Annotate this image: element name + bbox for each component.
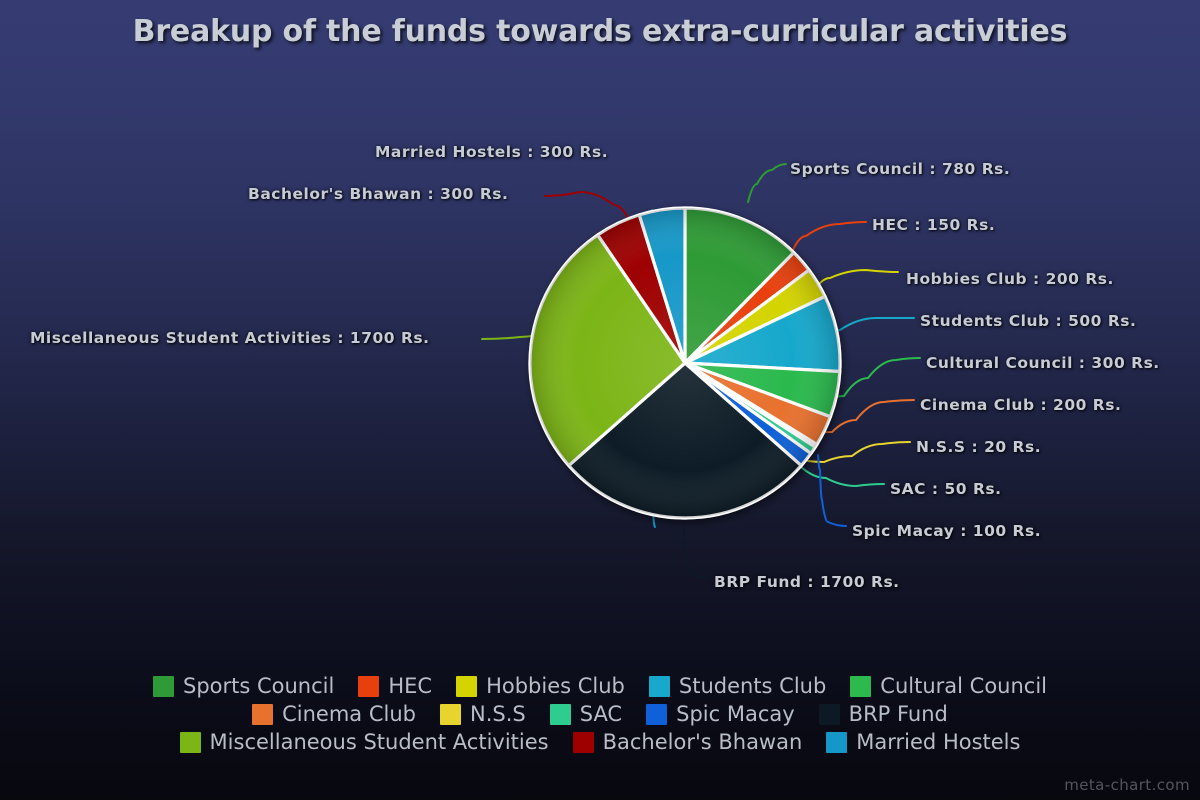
legend-label-cultural-council: Cultural Council <box>880 676 1047 697</box>
legend-label-miscellaneous-student-activities: Miscellaneous Student Activities <box>210 732 549 753</box>
legend-item-miscellaneous-student-activities[interactable]: Miscellaneous Student Activities <box>180 732 549 753</box>
callout-label-spic-macay: Spic Macay : 100 Rs. <box>852 522 1041 540</box>
callout-label-sports-council: Sports Council : 780 Rs. <box>790 160 1010 178</box>
legend-label-sac: SAC <box>580 704 622 725</box>
leader-line-bachelor-s-bhawan <box>545 192 630 222</box>
legend-label-sports-council: Sports Council <box>183 676 334 697</box>
legend-label-married-hostels: Married Hostels <box>856 732 1020 753</box>
legend-row: Sports CouncilHECHobbies ClubStudents Cl… <box>40 672 1160 700</box>
legend-label-students-club: Students Club <box>679 676 826 697</box>
legend-item-cultural-council[interactable]: Cultural Council <box>850 676 1047 697</box>
legend-row: Miscellaneous Student ActivitiesBachelor… <box>40 728 1160 756</box>
leader-line-hobbies-club <box>816 270 898 288</box>
pie-chart-page: Breakup of the funds towards extra-curri… <box>0 0 1200 800</box>
leader-line-sac <box>800 466 884 486</box>
legend-item-spic-macay[interactable]: Spic Macay <box>646 704 795 725</box>
legend-swatch-brp-fund <box>819 704 840 725</box>
legend-swatch-sports-council <box>153 676 174 697</box>
legend-swatch-hec <box>358 676 379 697</box>
legend-item-cinema-club[interactable]: Cinema Club <box>252 704 416 725</box>
legend-item-hobbies-club[interactable]: Hobbies Club <box>456 676 625 697</box>
leader-line-spic-macay <box>818 455 846 526</box>
legend-label-brp-fund: BRP Fund <box>849 704 948 725</box>
legend-item-married-hostels[interactable]: Married Hostels <box>826 732 1020 753</box>
legend-item-bachelor-s-bhawan[interactable]: Bachelor's Bhawan <box>573 732 803 753</box>
callout-label-nss: N.S.S : 20 Rs. <box>916 438 1041 456</box>
legend-swatch-bachelor-s-bhawan <box>573 732 594 753</box>
legend-item-n-s-s[interactable]: N.S.S <box>440 704 526 725</box>
leader-line-cultural-council <box>828 358 920 400</box>
watermark: meta-chart.com <box>1064 776 1190 794</box>
legend-swatch-students-club <box>649 676 670 697</box>
legend-label-spic-macay: Spic Macay <box>676 704 795 725</box>
callout-label-married-hostels: Married Hostels : 300 Rs. <box>375 143 608 161</box>
legend-swatch-cultural-council <box>850 676 871 697</box>
legend-swatch-hobbies-club <box>456 676 477 697</box>
legend-label-hec: HEC <box>388 676 432 697</box>
legend-item-sac[interactable]: SAC <box>550 704 622 725</box>
chart-legend: Sports CouncilHECHobbies ClubStudents Cl… <box>0 672 1200 756</box>
callout-label-sac: SAC : 50 Rs. <box>890 480 1002 498</box>
leader-line-sports-council <box>748 164 786 202</box>
legend-swatch-miscellaneous-student-activities <box>180 732 201 753</box>
legend-item-students-club[interactable]: Students Club <box>649 676 826 697</box>
leader-line-hec <box>792 222 866 252</box>
callout-label-miscellaneous: Miscellaneous Student Activities : 1700 … <box>30 329 430 347</box>
callout-label-hec: HEC : 150 Rs. <box>872 216 995 234</box>
leader-line-students-club <box>826 318 914 336</box>
callout-label-cinema-club: Cinema Club : 200 Rs. <box>920 396 1121 414</box>
legend-row: Cinema ClubN.S.SSACSpic MacayBRP Fund <box>40 700 1160 728</box>
legend-item-sports-council[interactable]: Sports Council <box>153 676 334 697</box>
legend-label-n-s-s: N.S.S <box>470 704 526 725</box>
legend-swatch-spic-macay <box>646 704 667 725</box>
legend-item-hec[interactable]: HEC <box>358 676 432 697</box>
legend-label-cinema-club: Cinema Club <box>282 704 416 725</box>
legend-label-hobbies-club: Hobbies Club <box>486 676 625 697</box>
callout-label-hobbies-club: Hobbies Club : 200 Rs. <box>906 270 1114 288</box>
leader-line-brp-fund <box>684 528 708 578</box>
legend-swatch-n-s-s <box>440 704 461 725</box>
callout-label-brp-fund: BRP Fund : 1700 Rs. <box>714 573 900 591</box>
callout-label-cultural-council: Cultural Council : 300 Rs. <box>926 354 1160 372</box>
legend-swatch-married-hostels <box>826 732 847 753</box>
legend-swatch-cinema-club <box>252 704 273 725</box>
callout-label-students-club: Students Club : 500 Rs. <box>920 312 1136 330</box>
legend-swatch-sac <box>550 704 571 725</box>
callout-label-bachelors-bhawan: Bachelor's Bhawan : 300 Rs. <box>248 185 508 203</box>
legend-item-brp-fund[interactable]: BRP Fund <box>819 704 948 725</box>
leader-line-n-s-s <box>808 442 910 462</box>
pie-slices-group <box>530 208 840 518</box>
legend-label-bachelor-s-bhawan: Bachelor's Bhawan <box>603 732 803 753</box>
